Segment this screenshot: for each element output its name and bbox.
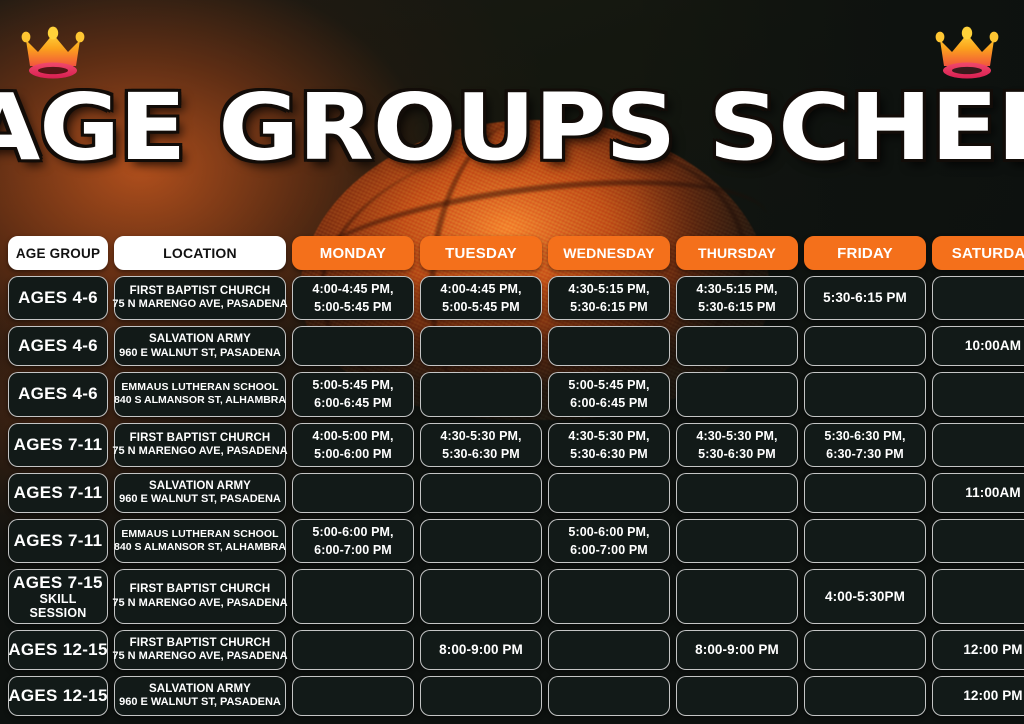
time-slot-text: 5:00-6:00 PM,6:00-7:00 PM — [312, 523, 393, 559]
time-slot-text: 4:00-4:45 PM,5:00-5:45 PM — [312, 280, 393, 316]
time-slot-text: 4:00-5:00 PM,5:00-6:00 PM — [312, 427, 393, 463]
age-group-label: AGES 7-11 — [14, 531, 103, 551]
location-name: FIRST BAPTIST CHURCH — [130, 431, 271, 445]
location-cell: EMMAUS LUTHERAN SCHOOL840 S ALMANSOR ST,… — [114, 372, 286, 416]
location-cell: FIRST BAPTIST CHURCH75 N MARENGO AVE, PA… — [114, 276, 286, 320]
location-name: FIRST BAPTIST CHURCH — [130, 636, 271, 650]
header-day-wednesday: WEDNESDAY — [548, 236, 670, 270]
location-address: 840 S ALMANSOR ST, ALHAMBRA — [114, 541, 286, 554]
age-group-cell: AGES 4-6 — [8, 276, 108, 320]
age-group-label: AGES 12-15 — [8, 640, 107, 660]
age-group-cell: AGES 4-6 — [8, 372, 108, 416]
age-group-label: AGES 4-6 — [18, 288, 98, 308]
schedule-cell-wednesday: 4:30-5:15 PM,5:30-6:15 PM — [548, 276, 670, 320]
age-group-cell: AGES 12-15 — [8, 676, 108, 716]
schedule-cell-monday: 5:00-5:45 PM,6:00-6:45 PM — [292, 372, 414, 416]
header-day-saturday: SATURDAY — [932, 236, 1024, 270]
location-cell: SALVATION ARMY960 E WALNUT ST, PASADENA — [114, 473, 286, 513]
age-group-cell: AGES 7-15SKILL SESSION — [8, 569, 108, 624]
crown-icon — [20, 26, 86, 80]
time-slot-text: 10:00AM — [965, 336, 1021, 356]
header-day-tuesday: TUESDAY — [420, 236, 542, 270]
location-cell: FIRST BAPTIST CHURCH75 N MARENGO AVE, PA… — [114, 423, 286, 467]
schedule-cell-friday — [804, 676, 926, 716]
schedule-cell-saturday — [932, 372, 1024, 416]
schedule-cell-friday: 5:30-6:30 PM,6:30-7:30 PM — [804, 423, 926, 467]
age-group-cell: AGES 12-15 — [8, 630, 108, 670]
header-day-friday: FRIDAY — [804, 236, 926, 270]
table-row: AGES 7-15SKILL SESSIONFIRST BAPTIST CHUR… — [8, 569, 1016, 624]
schedule-cell-monday: 4:00-5:00 PM,5:00-6:00 PM — [292, 423, 414, 467]
time-slot-text: 11:00AM — [965, 483, 1020, 503]
schedule-cell-monday — [292, 473, 414, 513]
location-name: FIRST BAPTIST CHURCH — [130, 582, 271, 596]
schedule-cell-thursday — [676, 372, 798, 416]
time-slot-text: 4:00-5:30PM — [825, 587, 905, 607]
location-address: 75 N MARENGO AVE, PASADENA — [112, 445, 287, 459]
schedule-cell-friday — [804, 519, 926, 563]
schedule-cell-wednesday: 4:30-5:30 PM,5:30-6:30 PM — [548, 423, 670, 467]
table-row: AGES 7-11SALVATION ARMY960 E WALNUT ST, … — [8, 473, 1016, 513]
time-slot-text: 8:00-9:00 PM — [439, 640, 523, 660]
schedule-cell-thursday — [676, 519, 798, 563]
table-row: AGES 12-15FIRST BAPTIST CHURCH75 N MAREN… — [8, 630, 1016, 670]
schedule-cell-saturday — [932, 569, 1024, 624]
age-group-cell: AGES 7-11 — [8, 473, 108, 513]
schedule-cell-wednesday — [548, 676, 670, 716]
schedule-cell-friday — [804, 473, 926, 513]
schedule-poster: AGE GROUPS SCHEDULE AGE GROUP LOCATION M… — [0, 0, 1024, 724]
location-address: 960 E WALNUT ST, PASADENA — [119, 347, 281, 361]
schedule-cell-thursday — [676, 326, 798, 366]
age-group-label: AGES 4-6 — [18, 384, 98, 404]
schedule-cell-monday — [292, 569, 414, 624]
schedule-cell-tuesday — [420, 372, 542, 416]
age-group-label: AGES 7-15 — [13, 573, 103, 593]
location-name: FIRST BAPTIST CHURCH — [130, 284, 271, 298]
time-slot-text: 4:30-5:15 PM,5:30-6:15 PM — [568, 280, 649, 316]
schedule-cell-monday — [292, 676, 414, 716]
schedule-cell-tuesday — [420, 519, 542, 563]
table-row: AGES 7-11EMMAUS LUTHERAN SCHOOL840 S ALM… — [8, 519, 1016, 563]
time-slot-text: 5:30-6:30 PM,6:30-7:30 PM — [824, 427, 905, 463]
table-row: AGES 7-11FIRST BAPTIST CHURCH75 N MARENG… — [8, 423, 1016, 467]
age-group-sublabel: SKILL SESSION — [13, 592, 103, 620]
schedule-cell-thursday — [676, 676, 798, 716]
schedule-cell-saturday — [932, 276, 1024, 320]
schedule-cell-thursday — [676, 473, 798, 513]
age-group-label: AGES 7-11 — [14, 435, 103, 455]
schedule-cell-saturday: 12:00 PM — [932, 630, 1024, 670]
location-cell: FIRST BAPTIST CHURCH75 N MARENGO AVE, PA… — [114, 630, 286, 670]
schedule-cell-saturday: 12:00 PM — [932, 676, 1024, 716]
schedule-cell-saturday — [932, 519, 1024, 563]
location-cell: FIRST BAPTIST CHURCH75 N MARENGO AVE, PA… — [114, 569, 286, 624]
header-day-thursday: THURSDAY — [676, 236, 798, 270]
location-name: EMMAUS LUTHERAN SCHOOL — [121, 528, 278, 541]
header-location: LOCATION — [114, 236, 286, 270]
time-slot-text: 12:00 PM — [963, 686, 1022, 706]
time-slot-text: 5:00-6:00 PM,6:00-7:00 PM — [568, 523, 649, 559]
table-row: AGES 12-15SALVATION ARMY960 E WALNUT ST,… — [8, 676, 1016, 716]
schedule-cell-friday: 5:30-6:15 PM — [804, 276, 926, 320]
schedule-cell-wednesday — [548, 473, 670, 513]
schedule-cell-tuesday — [420, 326, 542, 366]
schedule-cell-tuesday: 4:30-5:30 PM,5:30-6:30 PM — [420, 423, 542, 467]
time-slot-text: 4:30-5:30 PM,5:30-6:30 PM — [440, 427, 521, 463]
location-address: 75 N MARENGO AVE, PASADENA — [112, 597, 287, 611]
age-group-cell: AGES 7-11 — [8, 519, 108, 563]
schedule-cell-monday: 5:00-6:00 PM,6:00-7:00 PM — [292, 519, 414, 563]
time-slot-text: 8:00-9:00 PM — [695, 640, 779, 660]
table-row: AGES 4-6SALVATION ARMY960 E WALNUT ST, P… — [8, 326, 1016, 366]
location-address: 960 E WALNUT ST, PASADENA — [119, 493, 281, 507]
schedule-cell-tuesday: 4:00-4:45 PM,5:00-5:45 PM — [420, 276, 542, 320]
time-slot-text: 5:00-5:45 PM,6:00-6:45 PM — [312, 376, 393, 412]
schedule-cell-friday — [804, 326, 926, 366]
schedule-cell-thursday: 4:30-5:15 PM,5:30-6:15 PM — [676, 276, 798, 320]
location-cell: SALVATION ARMY960 E WALNUT ST, PASADENA — [114, 676, 286, 716]
schedule-cell-wednesday: 5:00-5:45 PM,6:00-6:45 PM — [548, 372, 670, 416]
schedule-cell-tuesday — [420, 569, 542, 624]
schedule-cell-wednesday: 5:00-6:00 PM,6:00-7:00 PM — [548, 519, 670, 563]
age-group-cell: AGES 7-11 — [8, 423, 108, 467]
schedule-cell-saturday: 10:00AM — [932, 326, 1024, 366]
time-slot-text: 5:00-5:45 PM,6:00-6:45 PM — [568, 376, 649, 412]
schedule-cell-friday — [804, 630, 926, 670]
location-name: SALVATION ARMY — [149, 682, 251, 696]
schedule-cell-tuesday — [420, 676, 542, 716]
schedule-cell-wednesday — [548, 326, 670, 366]
time-slot-text: 5:30-6:15 PM — [823, 288, 907, 308]
schedule-cell-wednesday — [548, 630, 670, 670]
location-name: SALVATION ARMY — [149, 479, 251, 493]
age-group-label: AGES 7-11 — [14, 483, 103, 503]
schedule-cell-thursday: 4:30-5:30 PM,5:30-6:30 PM — [676, 423, 798, 467]
schedule-cell-friday: 4:00-5:30PM — [804, 569, 926, 624]
location-address: 75 N MARENGO AVE, PASADENA — [112, 650, 287, 664]
location-cell: SALVATION ARMY960 E WALNUT ST, PASADENA — [114, 326, 286, 366]
location-name: EMMAUS LUTHERAN SCHOOL — [121, 381, 278, 394]
time-slot-text: 4:30-5:30 PM,5:30-6:30 PM — [696, 427, 777, 463]
table-header-row: AGE GROUP LOCATION MONDAY TUESDAY WEDNES… — [8, 236, 1016, 270]
age-group-label: AGES 4-6 — [18, 336, 98, 356]
header-day-monday: MONDAY — [292, 236, 414, 270]
schedule-cell-saturday: 11:00AM — [932, 473, 1024, 513]
location-address: 75 N MARENGO AVE, PASADENA — [112, 298, 287, 312]
page-title: AGE GROUPS SCHEDULE — [0, 82, 1024, 174]
schedule-cell-monday — [292, 326, 414, 366]
time-slot-text: 4:30-5:30 PM,5:30-6:30 PM — [568, 427, 649, 463]
location-address: 840 S ALMANSOR ST, ALHAMBRA — [114, 394, 286, 407]
time-slot-text: 4:00-4:45 PM,5:00-5:45 PM — [440, 280, 521, 316]
crown-icon — [934, 26, 1000, 80]
time-slot-text: 12:00 PM — [963, 640, 1022, 660]
header-age-group: AGE GROUP — [8, 236, 108, 270]
schedule-cell-monday: 4:00-4:45 PM,5:00-5:45 PM — [292, 276, 414, 320]
schedule-cell-thursday: 8:00-9:00 PM — [676, 630, 798, 670]
location-cell: EMMAUS LUTHERAN SCHOOL840 S ALMANSOR ST,… — [114, 519, 286, 563]
schedule-cell-wednesday — [548, 569, 670, 624]
location-address: 960 E WALNUT ST, PASADENA — [119, 696, 281, 710]
schedule-cell-friday — [804, 372, 926, 416]
age-group-label: AGES 12-15 — [8, 686, 107, 706]
location-name: SALVATION ARMY — [149, 332, 251, 346]
table-row: AGES 4-6FIRST BAPTIST CHURCH75 N MARENGO… — [8, 276, 1016, 320]
table-body: AGES 4-6FIRST BAPTIST CHURCH75 N MARENGO… — [8, 276, 1016, 716]
schedule-cell-thursday — [676, 569, 798, 624]
table-row: AGES 4-6EMMAUS LUTHERAN SCHOOL840 S ALMA… — [8, 372, 1016, 416]
schedule-cell-tuesday — [420, 473, 542, 513]
age-group-cell: AGES 4-6 — [8, 326, 108, 366]
time-slot-text: 4:30-5:15 PM,5:30-6:15 PM — [696, 280, 777, 316]
schedule-cell-saturday — [932, 423, 1024, 467]
schedule-cell-monday — [292, 630, 414, 670]
schedule-cell-tuesday: 8:00-9:00 PM — [420, 630, 542, 670]
schedule-table: AGE GROUP LOCATION MONDAY TUESDAY WEDNES… — [8, 236, 1016, 722]
